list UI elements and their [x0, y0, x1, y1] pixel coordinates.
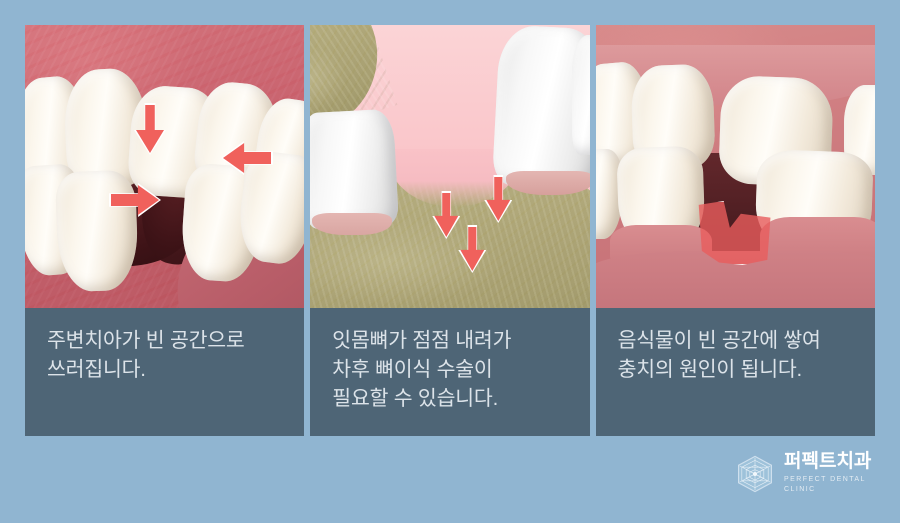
panel-drifting-teeth[interactable]: 주변치아가 빈 공간으로 쓰러집니다.	[25, 25, 304, 436]
clinic-logo[interactable]: 퍼펙트치과 PERFECT DENTAL CLINIC	[735, 450, 875, 498]
logo-clinic-name: 퍼펙트치과	[784, 452, 875, 472]
panel-row: 주변치아가 빈 공간으로 쓰러집니다.	[25, 25, 875, 436]
tooth-right-root-collar	[506, 171, 589, 195]
caption-text-drifting-teeth: 주변치아가 빈 공간으로 쓰러집니다.	[47, 326, 284, 384]
tooth-lower-second	[55, 170, 139, 293]
hexagon-web-icon	[735, 454, 775, 494]
illustration-food-impaction	[596, 25, 875, 308]
caption-box-food-impaction: 음식물이 빈 공간에 쌓여 충치의 원인이 됩니다.	[596, 308, 875, 436]
logo-text-block: 퍼펙트치과 PERFECT DENTAL CLINIC	[784, 452, 875, 496]
tooth-left-exposed-root	[310, 109, 399, 230]
panel-food-impaction[interactable]: 음식물이 빈 공간에 쌓여 충치의 원인이 됩니다.	[596, 25, 875, 436]
tooth-left-root-collar	[312, 213, 392, 235]
caption-box-drifting-teeth: 주변치아가 빈 공간으로 쓰러집니다.	[25, 308, 304, 436]
caption-text-food-impaction: 음식물이 빈 공간에 쌓여 충치의 원인이 됩니다.	[618, 326, 855, 384]
tooth-far-right-edge	[572, 35, 589, 155]
panel-bone-loss[interactable]: 잇몸뼈가 점점 내려가 차후 뼈이식 수술이 필요할 수 있습니다.	[310, 25, 589, 436]
caption-box-bone-loss: 잇몸뼈가 점점 내려가 차후 뼈이식 수술이 필요할 수 있습니다.	[310, 308, 589, 436]
caption-text-bone-loss: 잇몸뼈가 점점 내려가 차후 뼈이식 수술이 필요할 수 있습니다.	[332, 326, 569, 413]
illustration-drifting-teeth	[25, 25, 304, 308]
logo-clinic-subtitle: PERFECT DENTAL CLINIC	[784, 475, 875, 496]
illustration-bone-loss	[310, 25, 589, 308]
